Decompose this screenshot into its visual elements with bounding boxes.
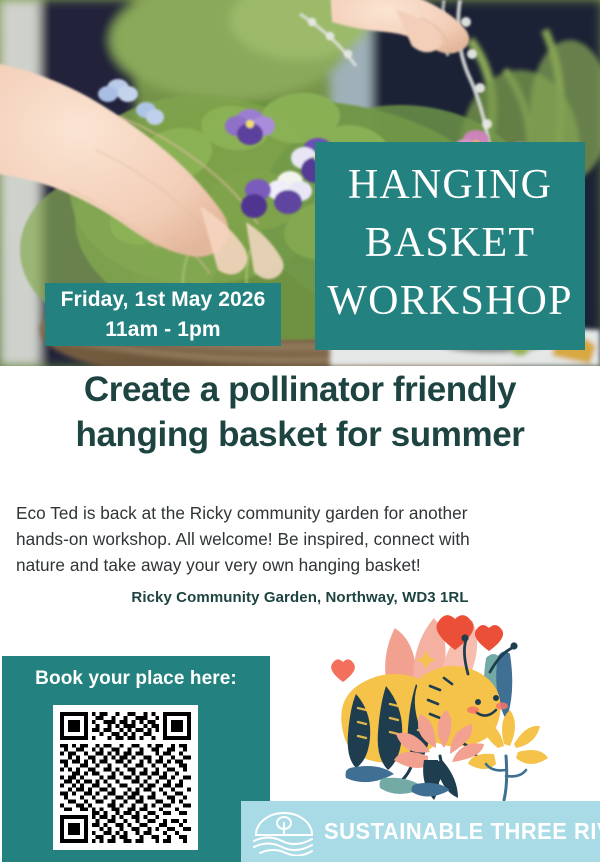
title-line-1: HANGING (348, 157, 552, 215)
description-line-3: nature and take away your very own hangi… (16, 552, 584, 578)
description-paragraph: Eco Ted is back at the Ricky community g… (16, 500, 584, 578)
qr-code-icon[interactable] (53, 705, 198, 850)
headline-line-2: hanging basket for summer (0, 413, 600, 458)
event-date: Friday, 1st May 2026 (61, 285, 266, 315)
bee-illustration-icon (318, 608, 588, 803)
event-date-block: Friday, 1st May 2026 11am - 1pm (45, 283, 281, 346)
title-line-2: BASKET (365, 215, 536, 273)
sustainable-three-rivers-logo-icon (250, 808, 322, 856)
sustainable-three-rivers-logo-bar: SUSTAINABLE THREE RIVERS (241, 801, 600, 862)
poster-title-block: HANGING BASKET WORKSHOP (315, 142, 585, 350)
title-line-3: WORKSHOP (327, 273, 572, 331)
venue-address: Ricky Community Garden, Northway, WD3 1R… (0, 589, 600, 606)
page-title: Create a pollinator friendly hanging bas… (0, 368, 600, 458)
logo-wordmark: SUSTAINABLE THREE RIVERS (324, 818, 600, 845)
booking-block: Book your place here: (2, 656, 270, 862)
description-line-1: Eco Ted is back at the Ricky community g… (16, 500, 584, 526)
headline-line-1: Create a pollinator friendly (0, 368, 600, 413)
booking-label: Book your place here: (2, 668, 270, 690)
description-line-2: hands-on workshop. All welcome! Be inspi… (16, 526, 584, 552)
event-time: 11am - 1pm (105, 315, 220, 345)
